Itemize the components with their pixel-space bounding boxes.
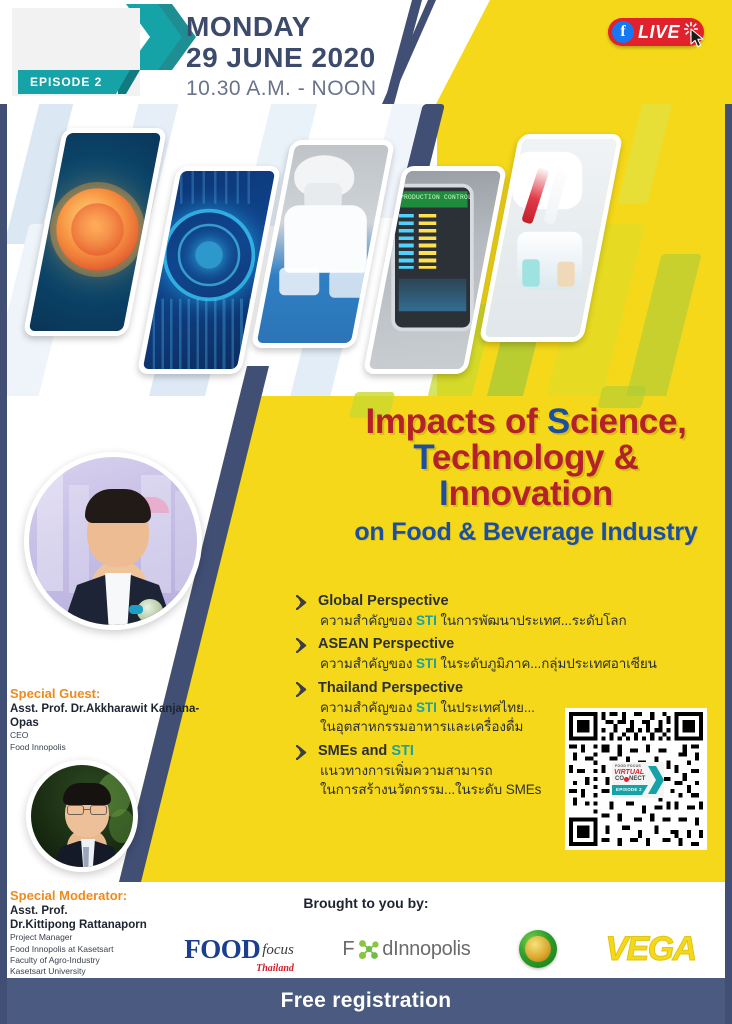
free-registration-label: Free registration — [281, 989, 452, 1013]
agenda-heading: Thailand Perspective — [318, 679, 463, 698]
speaker-title-guest: CEO — [10, 730, 210, 741]
chevron-right-icon — [296, 595, 309, 610]
header-bar: FOOD FOCUS VIRTUAL CONNECT EPISODE 2 MON… — [0, 0, 732, 104]
agenda-desc-post: ในระดับภูมิภาค...กลุ่มประเทศอาเซียน — [437, 656, 657, 671]
footer-bar: Free registration — [7, 978, 725, 1024]
agenda-description: ความสำคัญของ STI ในการพัฒนาประเทศ...ระดั… — [320, 611, 696, 631]
event-date: 29 JUNE 2020 — [186, 42, 377, 73]
government-seal-logo[interactable] — [519, 930, 557, 968]
chevron-right-icon — [296, 745, 309, 760]
chevron-right-icon — [296, 638, 309, 653]
agenda-desc-pre: ความสำคัญของ — [320, 700, 416, 715]
sponsor-fi-suffix: dInnopolis — [382, 938, 470, 961]
chevron-right-icon — [296, 682, 309, 697]
deco-bar — [617, 104, 674, 204]
title-text-impacts-of: Impacts of — [365, 402, 546, 441]
deco-bar — [624, 254, 701, 396]
agenda-desc-sti: STI — [416, 700, 437, 715]
agenda-heading: SMEs and STI — [318, 742, 414, 761]
qr-embedded-logo: FOOD FOCUS VIRTUAL CO NECT EPISODE 2 — [612, 762, 664, 798]
title-line-2: Technology & — [330, 440, 722, 476]
speaker-name-guest: Asst. Prof. Dr.Akkharawit Kanjana-Opas — [10, 702, 210, 730]
frame-border-left — [0, 0, 7, 1024]
title-text-cience: cience, — [570, 402, 687, 441]
agenda-item-global: Global Perspective ความสำคัญของ STI ในกา… — [296, 592, 696, 630]
speaker-role-guest: Special Guest: — [10, 686, 210, 702]
agenda-heading: ASEAN Perspective — [318, 635, 454, 654]
event-datetime: MONDAY 29 JUNE 2020 10.30 A.M. - NOON — [186, 11, 377, 102]
sponsor-food-text: FOOD — [184, 934, 260, 964]
speaker-info-guest: Special Guest: Asst. Prof. Dr.Akkharawit… — [10, 686, 210, 753]
episode-label: EPISODE 2 — [30, 75, 102, 89]
molecule-icon — [355, 936, 381, 962]
agenda-item-asean: ASEAN Perspective ความสำคัญของ STI ในระด… — [296, 635, 696, 673]
agenda-desc-sti: STI — [416, 613, 437, 628]
agenda-heading-pre: SMEs and — [318, 743, 391, 759]
live-label: LIVE — [638, 22, 680, 43]
header-yellow-wedge — [402, 0, 732, 104]
frame-border-right — [725, 0, 732, 1024]
food-innopolis-logo[interactable]: F dInnopolis — [342, 936, 470, 962]
photo-strip: PRODUCTION CONTROL — [7, 104, 725, 396]
agenda-desc-post: ในประเทศไทย... — [437, 700, 535, 715]
agenda-description: ความสำคัญของ STI ในระดับภูมิภาค...กลุ่มป… — [320, 654, 696, 674]
agenda-desc-post: ในการพัฒนาประเทศ...ระดับโลก — [437, 613, 627, 628]
title-accent-s: S — [547, 402, 570, 441]
poster-root: PRODUCTION CONTROL — [0, 0, 732, 1024]
event-day: MONDAY — [186, 11, 377, 42]
facebook-icon: f — [612, 21, 634, 43]
sponsor-thailand-text: Thailand — [256, 963, 294, 974]
seal-inner-emblem — [525, 936, 551, 962]
sponsor-fi-prefix: F — [342, 938, 354, 961]
agenda-heading: Global Perspective — [318, 592, 449, 611]
event-time: 10.30 A.M. - NOON — [186, 76, 377, 102]
title-line-1: Impacts of Science, — [330, 404, 722, 440]
sponsor-focus-text: focus — [262, 942, 294, 958]
title-text-nnovation: nnovation — [448, 474, 613, 513]
speaker-photo-moderator — [26, 760, 138, 872]
title-line-3: Innovation — [330, 476, 722, 512]
header-slate-stripe-back — [382, 0, 422, 104]
agenda-desc-sti: STI — [416, 656, 437, 671]
food-focus-thailand-logo[interactable]: FOODfocus Thailand — [184, 934, 294, 965]
poster-subtitle: on Food & Beverage Industry — [330, 519, 722, 547]
cursor-click-icon — [690, 28, 706, 48]
sponsors-heading: Brought to you by: — [0, 895, 732, 911]
title-accent-t: T — [413, 438, 431, 477]
agenda-heading-sti: STI — [391, 743, 414, 759]
speaker-company-guest: Food Innopolis — [10, 742, 210, 753]
sponsors-row: FOODfocus Thailand F dInnopolis VEGA — [160, 925, 720, 973]
agenda-desc-pre: ความสำคัญของ — [320, 656, 416, 671]
vega-logo[interactable]: VEGA — [605, 930, 695, 969]
agenda-desc-pre: ความสำคัญของ — [320, 613, 416, 628]
title-text-echnology: echnology & — [432, 438, 639, 477]
poster-title: Impacts of Science, Technology & Innovat… — [330, 404, 722, 547]
speaker-photo-guest — [24, 452, 202, 630]
